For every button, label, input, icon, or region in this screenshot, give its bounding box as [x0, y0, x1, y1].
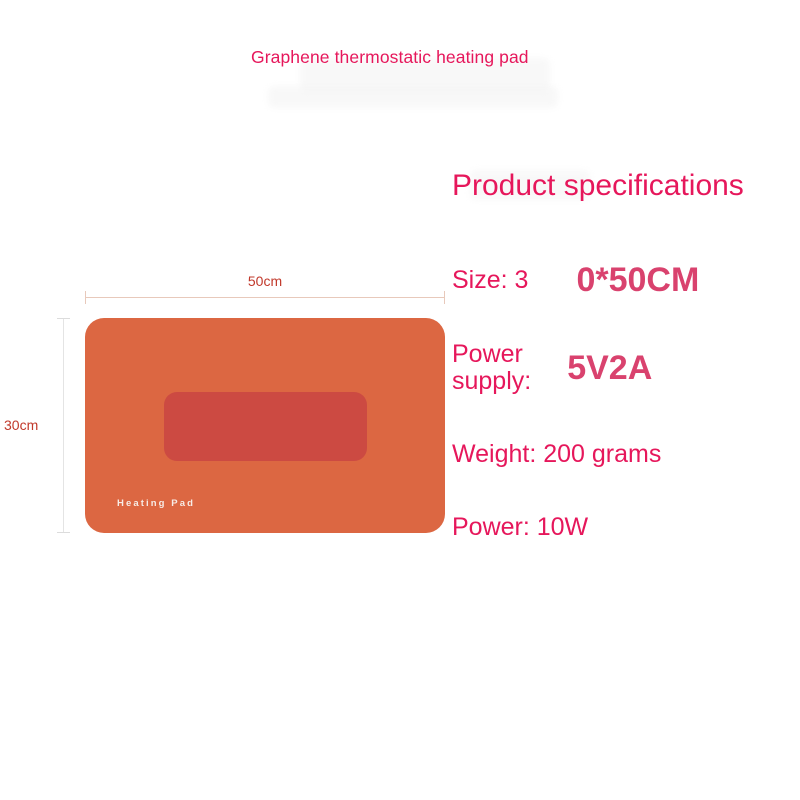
- spec-value-power-supply: 5V2A: [567, 350, 652, 386]
- dimension-width-line: [85, 297, 445, 298]
- dimension-width-label: 50cm: [85, 273, 445, 289]
- spec-label-weight: Weight: 200 grams: [452, 441, 661, 468]
- specifications-heading: Product specifications: [452, 168, 782, 204]
- dimension-height-label: 30cm: [4, 417, 38, 433]
- spec-row-weight: Weight: 200 grams: [452, 441, 661, 468]
- spec-label-size: Size: 3: [452, 267, 528, 294]
- product-spec-image: Graphene thermostatic heating pad 50cm 3…: [0, 0, 800, 800]
- background-artifact: [268, 86, 558, 108]
- spec-row-size: Size: 3 0*50CM: [452, 262, 699, 298]
- heating-pad-brand-label: Heating Pad: [117, 498, 195, 509]
- dimension-width-tick-right: [444, 291, 445, 304]
- heating-pad-heating-zone: [164, 392, 367, 461]
- dimension-width-tick-left: [85, 291, 86, 304]
- spec-value-size: 0*50CM: [576, 262, 699, 298]
- spec-row-power-supply: Power supply: 5V2A: [452, 341, 652, 395]
- spec-label-power: Power: 10W: [452, 514, 588, 541]
- dimension-height-tick-bottom: [57, 532, 70, 533]
- heating-pad-illustration: Heating Pad: [85, 318, 445, 533]
- product-title: Graphene thermostatic heating pad: [251, 45, 551, 69]
- dimension-height-tick-top: [57, 318, 70, 319]
- dimension-height-line: [63, 318, 64, 533]
- spec-label-power-supply: Power supply:: [452, 341, 531, 395]
- spec-row-power: Power: 10W: [452, 514, 588, 541]
